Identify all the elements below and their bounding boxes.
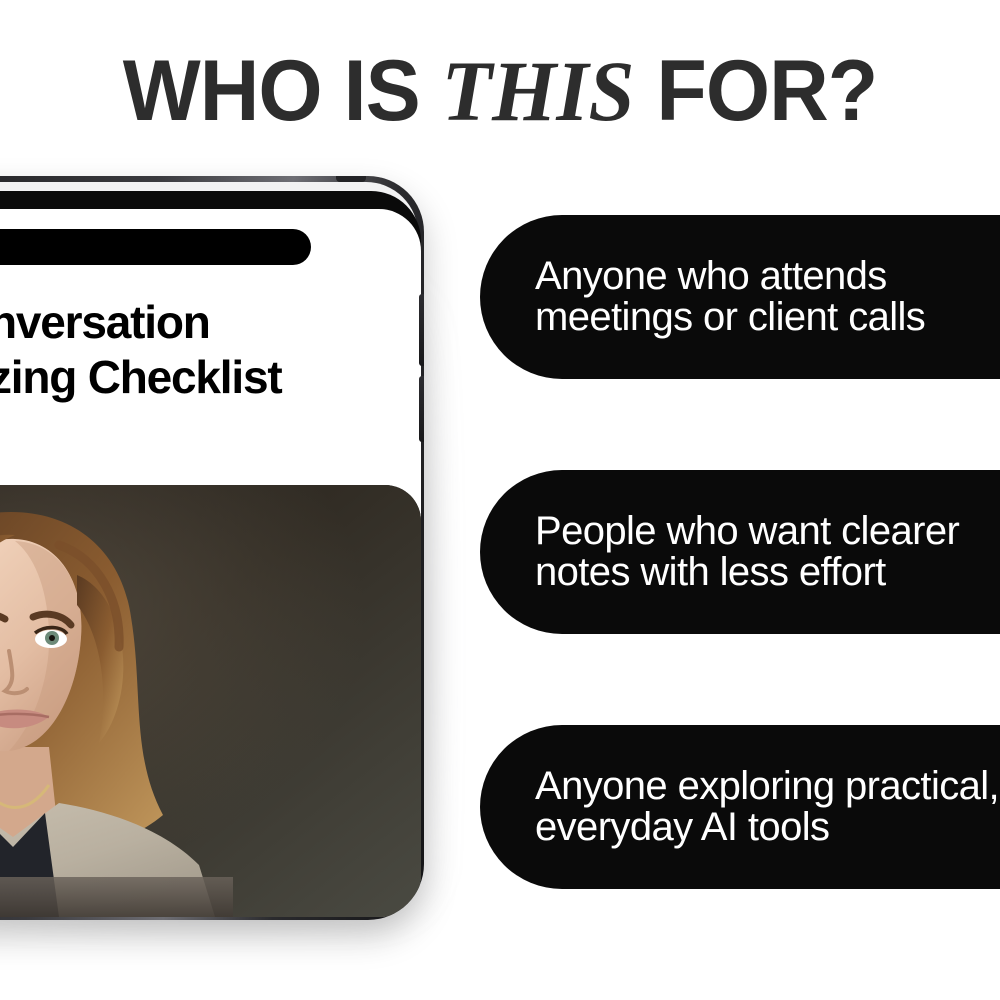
- page-title-part2: FOR?: [634, 43, 877, 139]
- phone-bezel: AI Conversation Summarizing Checklist: [0, 191, 421, 917]
- volume-button-icon[interactable]: [419, 294, 424, 366]
- antenna-nub-icon: [336, 176, 366, 182]
- phone-frame-inner: AI Conversation Summarizing Checklist: [0, 182, 418, 914]
- audience-pill-3-label: Anyone exploring practical, everyday AI …: [535, 766, 1000, 848]
- audience-pill-2-label: People who want clearer notes with less …: [535, 511, 1000, 593]
- power-button-icon[interactable]: [419, 376, 424, 442]
- portrait-photo: [0, 485, 421, 917]
- phone-screen: AI Conversation Summarizing Checklist: [0, 209, 421, 917]
- audience-pill-1-label: Anyone who attends meetings or client ca…: [535, 256, 1000, 338]
- page-title-emphasis: THIS: [442, 43, 635, 139]
- checklist-title-rest: Conversation Summarizing Checklist: [0, 296, 281, 403]
- page-title-part1: WHO IS: [123, 43, 442, 139]
- audience-pill-1: Anyone who attends meetings or client ca…: [480, 215, 1000, 379]
- audience-pill-3: Anyone exploring practical, everyday AI …: [480, 725, 1000, 889]
- audience-pill-2: People who want clearer notes with less …: [480, 470, 1000, 634]
- phone-mockup: AI Conversation Summarizing Checklist: [0, 176, 438, 924]
- phone-frame: AI Conversation Summarizing Checklist: [0, 176, 424, 920]
- screen-status-bar: [0, 229, 311, 265]
- checklist-title: AI Conversation Summarizing Checklist: [0, 295, 301, 405]
- portrait-photo-illustration: [0, 485, 421, 917]
- page-title: WHO IS THIS FOR?: [20, 48, 980, 134]
